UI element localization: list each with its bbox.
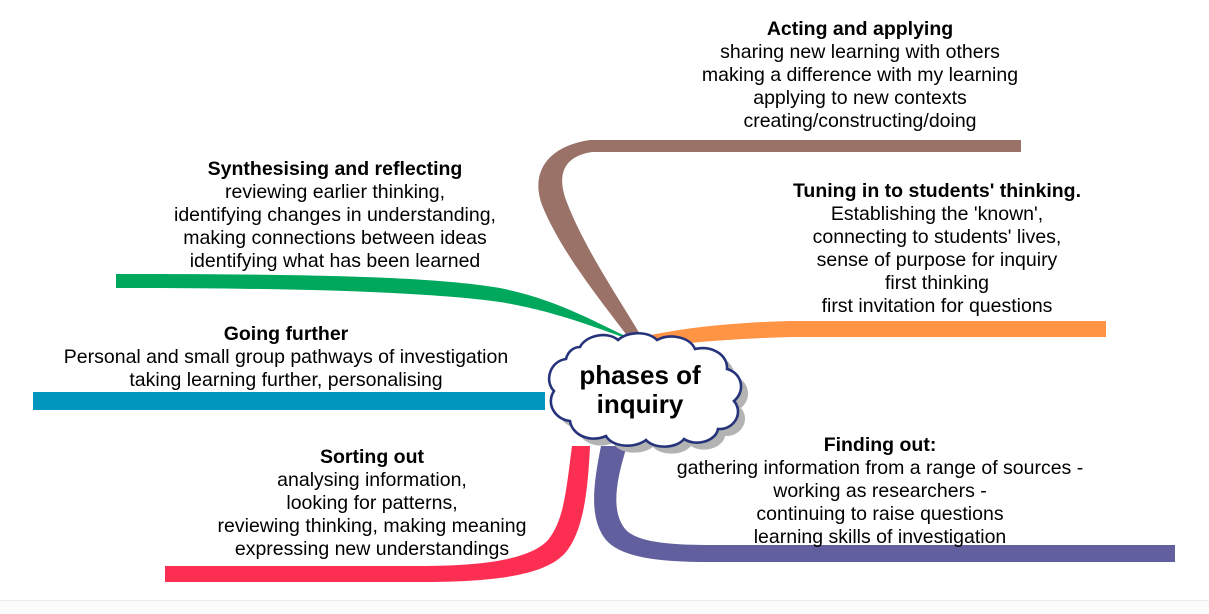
node-line: working as researchers - bbox=[660, 480, 1100, 503]
node-line: connecting to students' lives, bbox=[752, 226, 1122, 249]
node-acting-and-applying[interactable]: Acting and applying sharing new learning… bbox=[655, 18, 1065, 133]
node-line: sense of purpose for inquiry bbox=[752, 249, 1122, 272]
node-line: first thinking bbox=[752, 272, 1122, 295]
node-line: expressing new understandings bbox=[152, 538, 592, 561]
node-line: first invitation for questions bbox=[752, 295, 1122, 318]
node-going-further[interactable]: Going further Personal and small group p… bbox=[26, 323, 546, 392]
branch-going-further bbox=[33, 392, 545, 410]
node-line: identifying what has been learned bbox=[110, 250, 560, 273]
bottom-strip bbox=[0, 601, 1209, 614]
node-line: looking for patterns, bbox=[152, 492, 592, 515]
node-title: Tuning in to students' thinking. bbox=[752, 180, 1122, 203]
node-line: learning skills of investigation bbox=[660, 526, 1100, 549]
node-title: Finding out: bbox=[660, 434, 1100, 457]
node-line: Personal and small group pathways of inv… bbox=[26, 346, 546, 369]
node-line: making connections between ideas bbox=[110, 227, 560, 250]
mind-map-canvas: phases of inquiry Acting and applying sh… bbox=[0, 0, 1209, 614]
node-line: continuing to raise questions bbox=[660, 503, 1100, 526]
cloud-shape bbox=[549, 333, 741, 446]
node-line: sharing new learning with others bbox=[655, 41, 1065, 64]
node-title: Going further bbox=[26, 323, 546, 346]
node-line: identifying changes in understanding, bbox=[110, 204, 560, 227]
node-line: applying to new contexts bbox=[655, 87, 1065, 110]
node-title: Sorting out bbox=[152, 446, 592, 469]
node-line: making a difference with my learning bbox=[655, 64, 1065, 87]
node-finding-out[interactable]: Finding out: gathering information from … bbox=[660, 434, 1100, 549]
node-line: taking learning further, personalising bbox=[26, 369, 546, 392]
node-line: gathering information from a range of so… bbox=[660, 457, 1100, 480]
node-line: creating/constructing/doing bbox=[655, 110, 1065, 133]
node-line: Establishing the 'known', bbox=[752, 203, 1122, 226]
node-synthesising-and-reflecting[interactable]: Synthesising and reflecting reviewing ea… bbox=[110, 158, 560, 273]
node-tuning-in[interactable]: Tuning in to students' thinking. Establi… bbox=[752, 180, 1122, 318]
node-title: Synthesising and reflecting bbox=[110, 158, 560, 181]
node-sorting-out[interactable]: Sorting out analysing information, looki… bbox=[152, 446, 592, 561]
node-line: analysing information, bbox=[152, 469, 592, 492]
node-line: reviewing earlier thinking, bbox=[110, 181, 560, 204]
node-line: reviewing thinking, making meaning bbox=[152, 515, 592, 538]
node-title: Acting and applying bbox=[655, 18, 1065, 41]
